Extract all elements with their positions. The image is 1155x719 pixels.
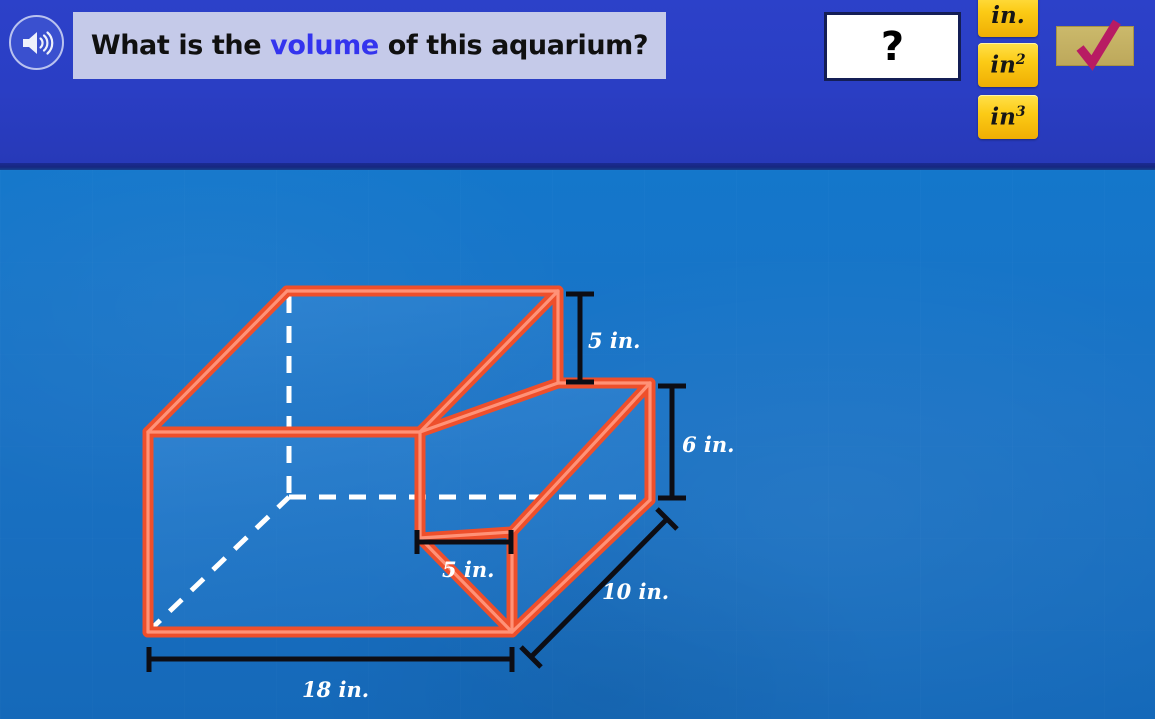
dimension-label-step-width: 5 in. [442, 557, 494, 582]
dimension-label-height-upper: 5 in. [588, 328, 640, 353]
aquarium-figure: 5 in. 6 in. 5 in. 10 in. 18 in. [0, 0, 1155, 719]
dimension-label-base-width: 18 in. [302, 677, 369, 702]
dimension-label-depth: 10 in. [602, 579, 669, 604]
dimension-label-height-lower: 6 in. [682, 432, 734, 457]
aquarium-volume-activity: What is the volume of this aquarium? ? i… [0, 0, 1155, 719]
